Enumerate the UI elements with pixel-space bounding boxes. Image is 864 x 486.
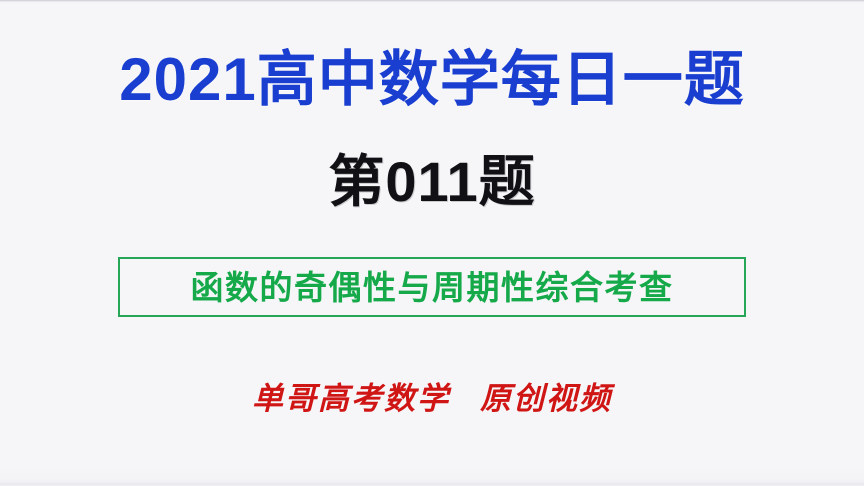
topic-label: 函数的奇偶性与周期性综合考查 <box>191 271 674 304</box>
author-signature: 单哥高考数学原创视频 <box>0 381 864 418</box>
lesson-number-title: 第011题 <box>0 152 864 212</box>
signature-author: 单哥高考数学 <box>252 381 450 417</box>
topic-banner: 函数的奇偶性与周期性综合考查 <box>118 257 746 317</box>
signature-tagline: 原创视频 <box>480 381 612 417</box>
title-slide: 2021高中数学每日一题 第011题 函数的奇偶性与周期性综合考查 单哥高考数学… <box>0 0 864 486</box>
page-title: 2021高中数学每日一题 <box>0 48 864 111</box>
